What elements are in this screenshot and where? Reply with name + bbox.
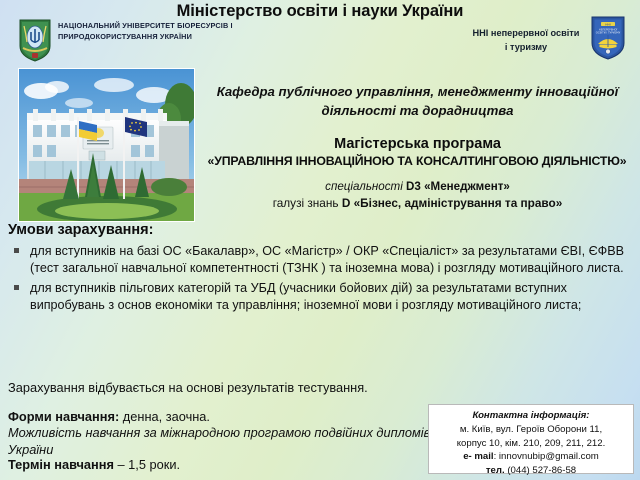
- field-line: галузі знань D «Бізнес, адміністрування …: [205, 196, 630, 210]
- enrollment-note: Зарахування відбувається на основі резул…: [8, 379, 478, 396]
- department-name: Кафедра публічного управління, менеджмен…: [205, 82, 630, 120]
- specialty-prefix: спеціальності: [325, 180, 403, 193]
- contact-email-value[interactable]: : innovnubip@gmail.com: [494, 451, 599, 462]
- institute-name: ННІ неперервної освіти і туризму: [470, 27, 582, 55]
- contact-title: Контактна інформація:: [435, 410, 627, 421]
- contact-phone-value: (044) 527-86-58: [505, 465, 576, 476]
- contact-email: e- mail: innovnubip@gmail.com: [435, 450, 627, 464]
- field-name: «Бізнес, адміністрування та право»: [354, 196, 563, 210]
- program-level-label: Магістерська програма: [205, 136, 630, 152]
- svg-text:ОСВІТИ І ТУРИЗМУ: ОСВІТИ І ТУРИЗМУ: [596, 31, 621, 35]
- duration-value: – 1,5 роки.: [114, 457, 180, 472]
- list-item: для вступників на базі ОС «Бакалавр», ОС…: [14, 243, 632, 278]
- bullet-square-icon: [14, 280, 30, 290]
- ministry-title: Міністерство освіти і науки України: [0, 2, 640, 21]
- admission-heading: Умови зарахування:: [8, 222, 153, 238]
- nubip-coat-of-arms-icon: [18, 16, 52, 62]
- admission-item-text: для вступників на базі ОС «Бакалавр», ОС…: [30, 243, 632, 278]
- contact-address-line1: м. Київ, вул. Героїв Оборони 11,: [435, 423, 627, 437]
- admission-item-text: для вступників пільгових категорій та УБ…: [30, 280, 632, 315]
- bullet-square-icon: [14, 243, 30, 253]
- specialty-line: спеціальності D3 «Менеджмент»: [205, 180, 630, 193]
- double-degree-note: Можливість навчання за міжнародною прогр…: [8, 424, 478, 458]
- contact-address-line2: корпус 10, кім. 210, 209, 211, 212.: [435, 437, 627, 451]
- field-code: D: [342, 196, 351, 210]
- specialty-code: D3: [406, 180, 421, 193]
- university-name: НАЦІОНАЛЬНИЙ УНІВЕРСИТЕТ БІОРЕСУРСІВ І П…: [58, 20, 248, 43]
- study-forms-value: денна, заочна.: [119, 409, 210, 424]
- study-forms-label: Форми навчання:: [8, 409, 119, 424]
- duration-label: Термін навчання: [8, 457, 114, 472]
- contact-phone: тел. (044) 527-86-58: [435, 464, 627, 478]
- study-forms: Форми навчання: денна, заочна.: [8, 408, 478, 425]
- field-prefix: галузі знань: [273, 196, 339, 210]
- presentation-slide: Міністерство освіти і науки України НАЦІ…: [0, 0, 640, 480]
- svg-text:ННІ: ННІ: [605, 22, 611, 26]
- contact-email-label: e- mail: [463, 451, 493, 462]
- program-name: «УПРАВЛІННЯ ІННОВАЦІЙНОЮ ТА КОНСАЛТИНГОВ…: [196, 154, 638, 168]
- contact-phone-label: тел.: [486, 465, 505, 476]
- nni-shield-emblem-icon: ННІ НЕПЕРЕРВНОЇ ОСВІТИ І ТУРИЗМУ: [590, 14, 626, 60]
- specialty-name: «Менеджмент»: [424, 180, 510, 193]
- admission-list: для вступників на базі ОС «Бакалавр», ОС…: [14, 243, 632, 317]
- list-item: для вступників пільгових категорій та УБ…: [14, 280, 632, 315]
- building-photo: [18, 68, 195, 222]
- contact-info-box: Контактна інформація: м. Київ, вул. Геро…: [428, 404, 634, 474]
- study-duration: Термін навчання – 1,5 роки.: [8, 456, 478, 473]
